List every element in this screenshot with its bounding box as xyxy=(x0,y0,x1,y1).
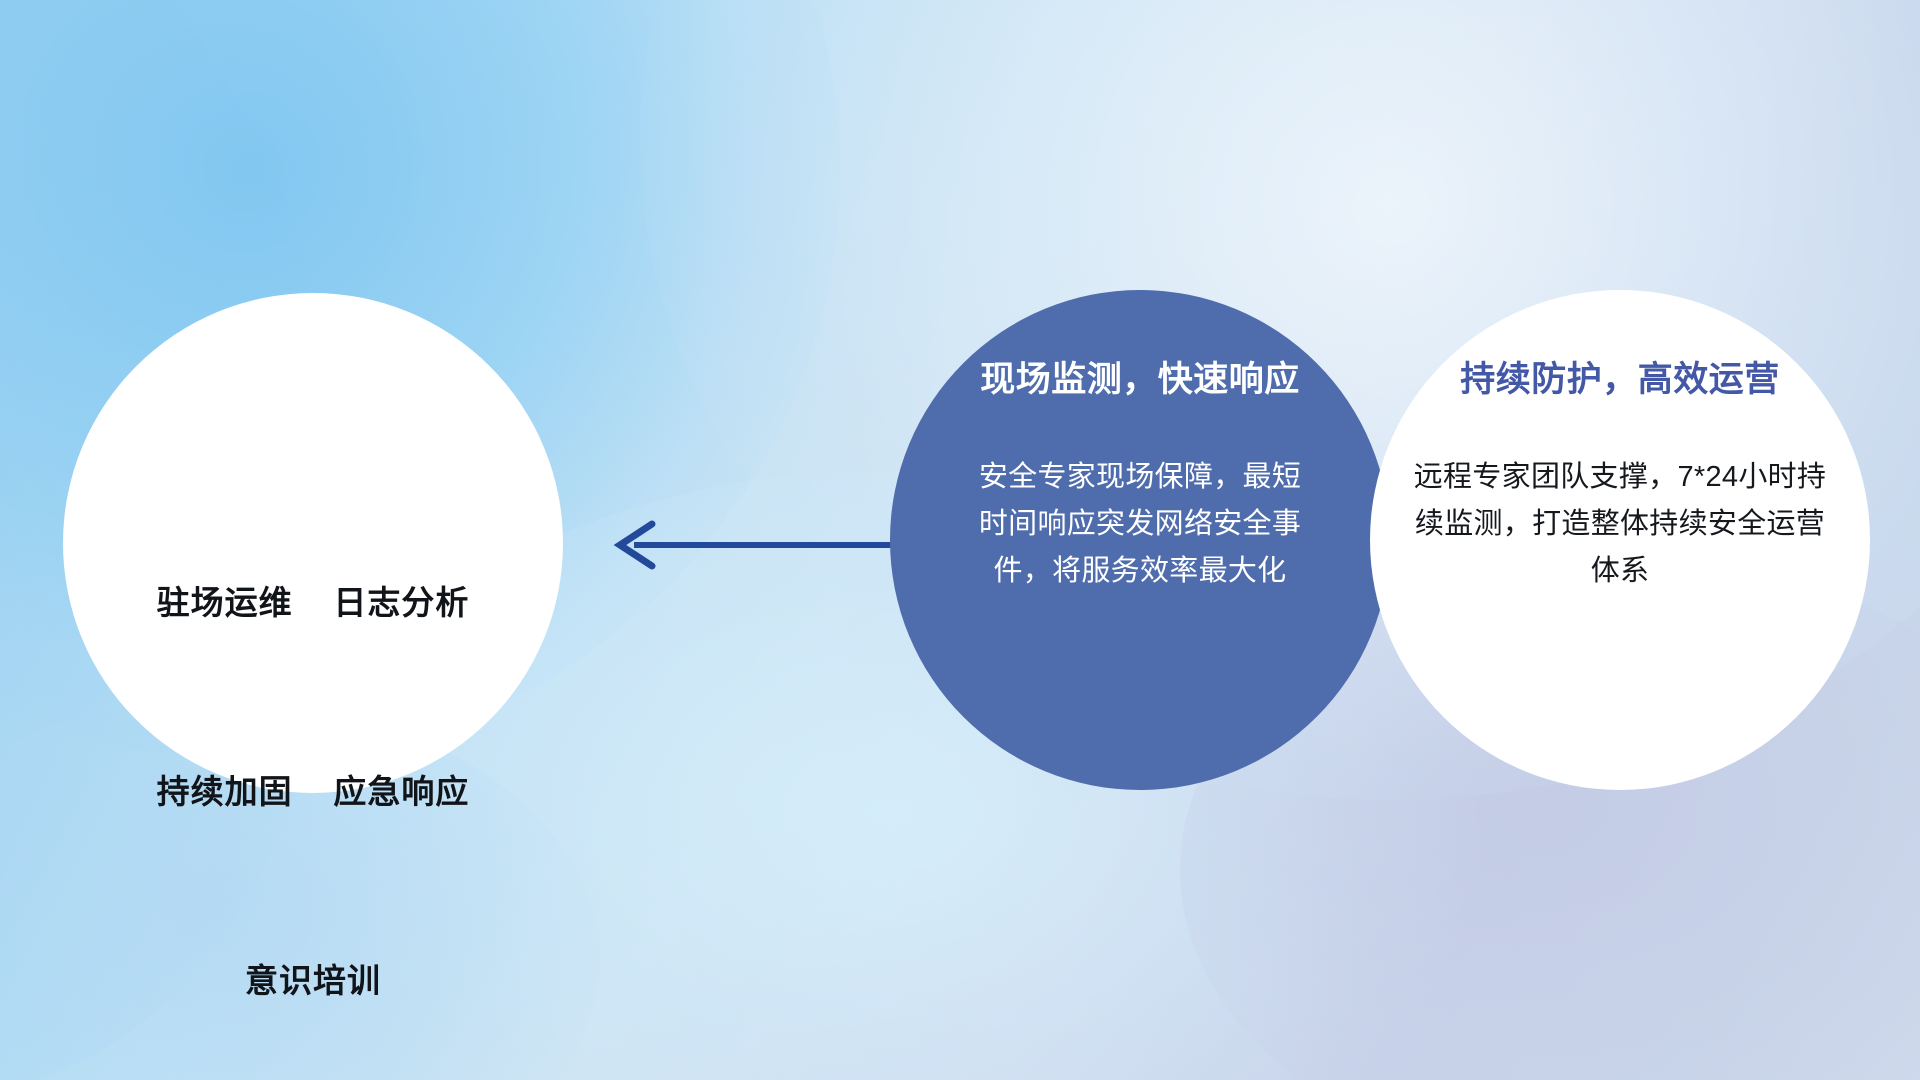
capabilities-circle[interactable]: 驻场运维 日志分析 持续加固 应急响应 意识培训 xyxy=(63,293,563,793)
flow-arrow-left-icon xyxy=(600,505,900,585)
onsite-circle-body: 安全专家现场保障，最短时间响应突发网络安全事件，将服务效率最大化 xyxy=(975,454,1305,595)
capabilities-line-3: 意识培训 xyxy=(157,949,470,1012)
onsite-monitoring-circle[interactable]: 现场监测，快速响应 安全专家现场保障，最短时间响应突发网络安全事件，将服务效率最… xyxy=(890,290,1390,790)
slide-canvas: 驻场运维 日志分析 持续加固 应急响应 意识培训 现场监测，快速响应 安全专家现… xyxy=(0,0,1920,1080)
onsite-circle-title: 现场监测，快速响应 xyxy=(980,358,1300,402)
capabilities-line-1: 驻场运维 日志分析 xyxy=(157,571,470,634)
remote-circle-body: 远程专家团队支撑，7*24小时持续监测，打造整体持续安全运营体系 xyxy=(1410,454,1830,595)
capabilities-tag-list: 驻场运维 日志分析 持续加固 应急响应 意识培训 xyxy=(157,445,470,1080)
remote-operations-circle[interactable]: 持续防护，高效运营 远程专家团队支撑，7*24小时持续监测，打造整体持续安全运营… xyxy=(1370,290,1870,790)
capabilities-line-2: 持续加固 应急响应 xyxy=(157,760,470,823)
remote-circle-title: 持续防护，高效运营 xyxy=(1460,358,1780,402)
